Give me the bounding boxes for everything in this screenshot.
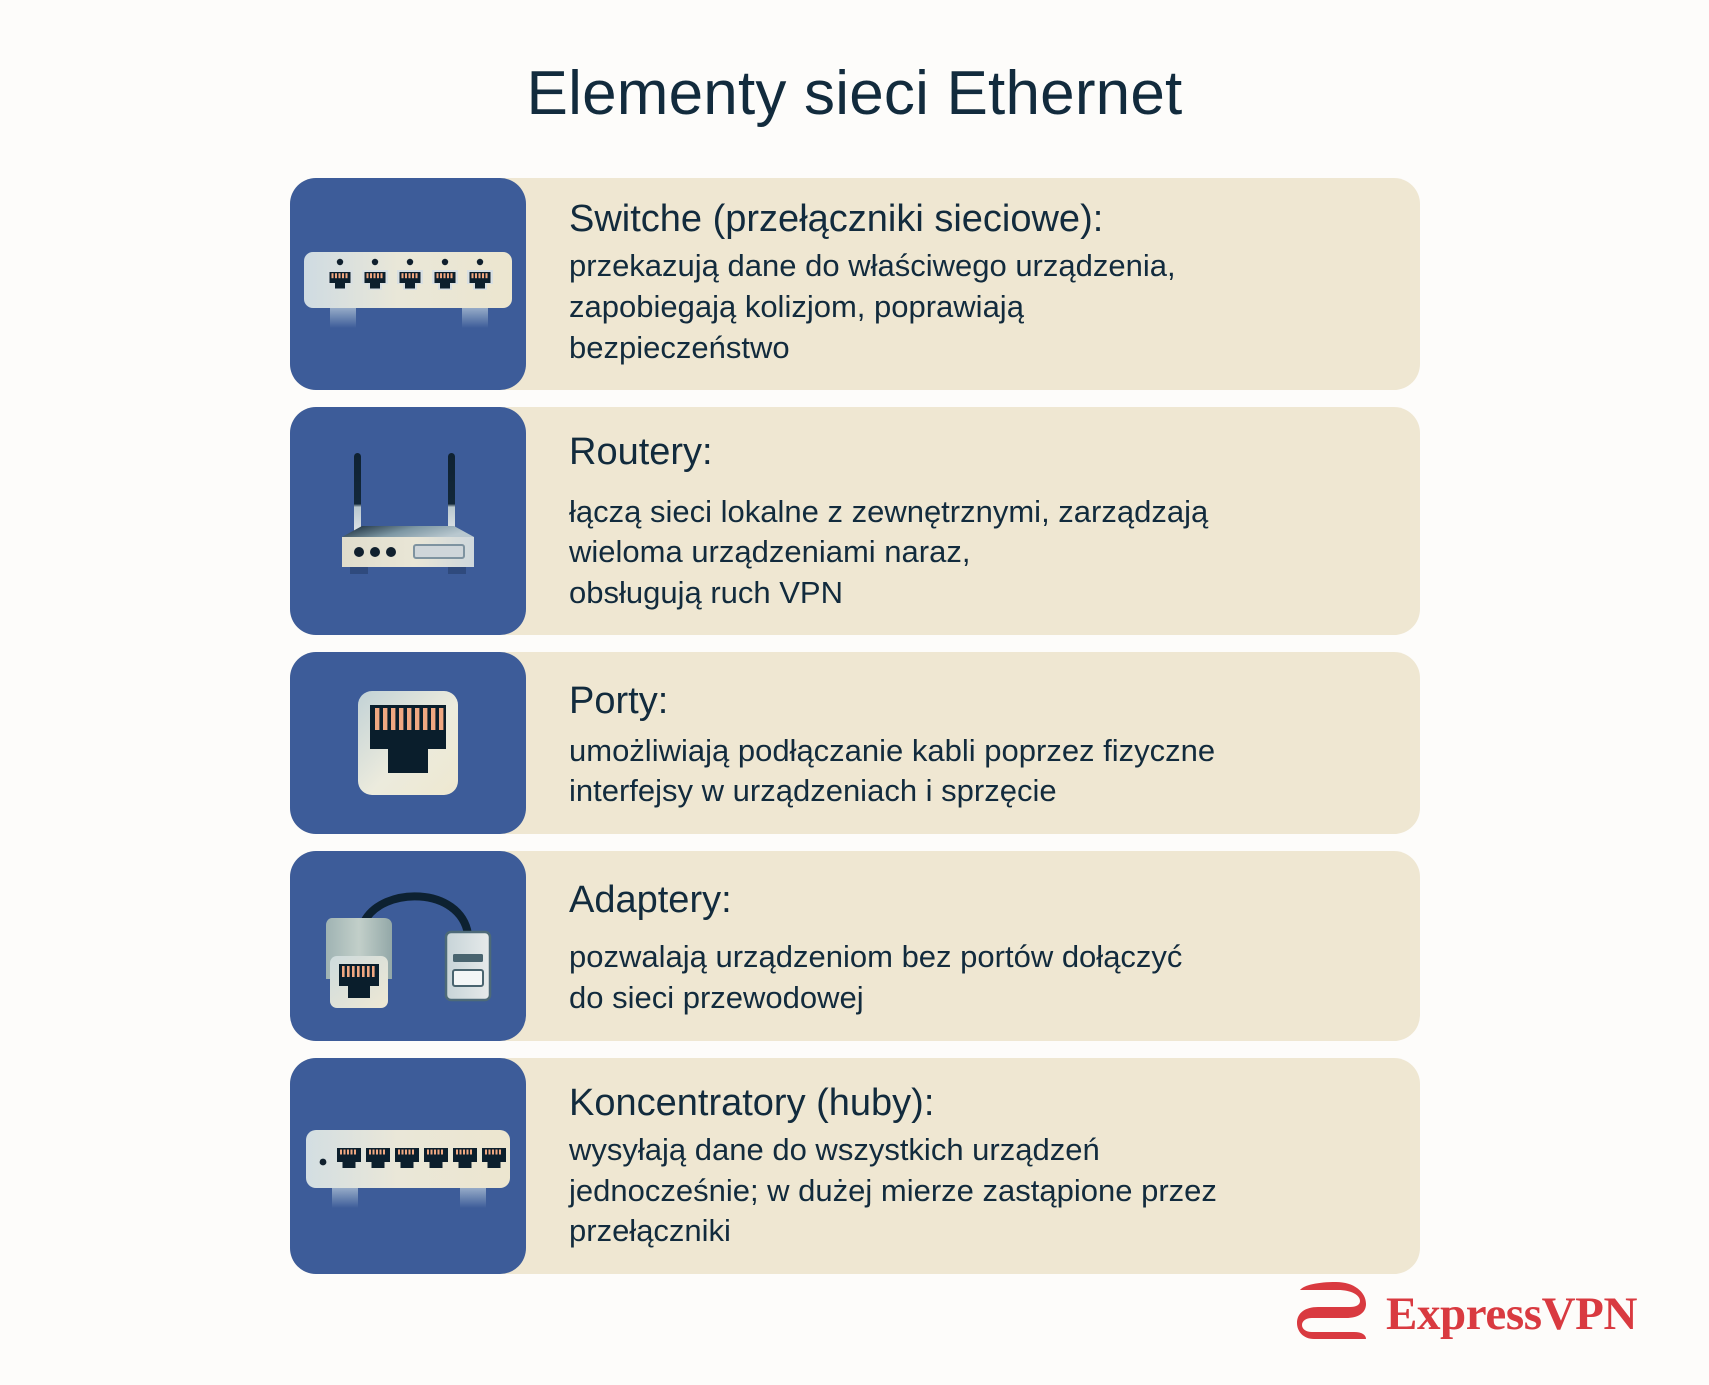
network-switch-icon xyxy=(290,178,526,390)
wifi-router-icon xyxy=(290,407,526,635)
ethernet-port-icon xyxy=(290,652,526,834)
card-body: pozwalają urządzeniom bez portów dołączy… xyxy=(569,937,1384,1018)
card-title: Adaptery: xyxy=(569,877,1384,923)
card-koncentratory: Koncentratory (huby): wysyłają dane do w… xyxy=(290,1058,1420,1274)
card-body: umożliwiają podłączanie kabli poprzez fi… xyxy=(569,731,1384,812)
card-text-switche: Switche (przełączniki sieciowe): przekaz… xyxy=(526,178,1420,390)
card-body: łączą sieci lokalne z zewnętrznymi, zarz… xyxy=(569,492,1384,614)
page-title: Elementy sieci Ethernet xyxy=(0,58,1709,129)
card-switche: Switche (przełączniki sieciowe): przekaz… xyxy=(290,178,1420,390)
card-title: Koncentratory (huby): xyxy=(569,1080,1384,1126)
element-card-list: Switche (przełączniki sieciowe): przekaz… xyxy=(290,178,1420,1274)
card-title: Switche (przełączniki sieciowe): xyxy=(569,196,1384,242)
card-adaptery: Adaptery: pozwalają urządzeniom bez port… xyxy=(290,851,1420,1041)
card-text-porty: Porty: umożliwiają podłączanie kabli pop… xyxy=(526,652,1420,834)
card-routery: Routery: łączą sieci lokalne z zewnętrzn… xyxy=(290,407,1420,635)
network-hub-icon xyxy=(290,1058,526,1274)
infographic-page: Elementy sieci Ethernet xyxy=(0,0,1709,1385)
expressvpn-logo: ExpressVPN xyxy=(1296,1280,1637,1347)
expressvpn-wordmark: ExpressVPN xyxy=(1386,1287,1637,1341)
expressvpn-e-mark-icon xyxy=(1296,1280,1370,1347)
card-body: wysyłają dane do wszystkich urządzeń jed… xyxy=(569,1130,1384,1252)
card-body: przekazują dane do właściwego urządzenia… xyxy=(569,246,1384,368)
card-title: Porty: xyxy=(569,678,1384,724)
card-text-routery: Routery: łączą sieci lokalne z zewnętrzn… xyxy=(526,407,1420,635)
usb-ethernet-adapter-icon xyxy=(290,851,526,1041)
card-text-koncentratory: Koncentratory (huby): wysyłają dane do w… xyxy=(526,1058,1420,1274)
card-title: Routery: xyxy=(569,429,1384,475)
card-porty: Porty: umożliwiają podłączanie kabli pop… xyxy=(290,652,1420,834)
card-text-adaptery: Adaptery: pozwalają urządzeniom bez port… xyxy=(526,851,1420,1041)
